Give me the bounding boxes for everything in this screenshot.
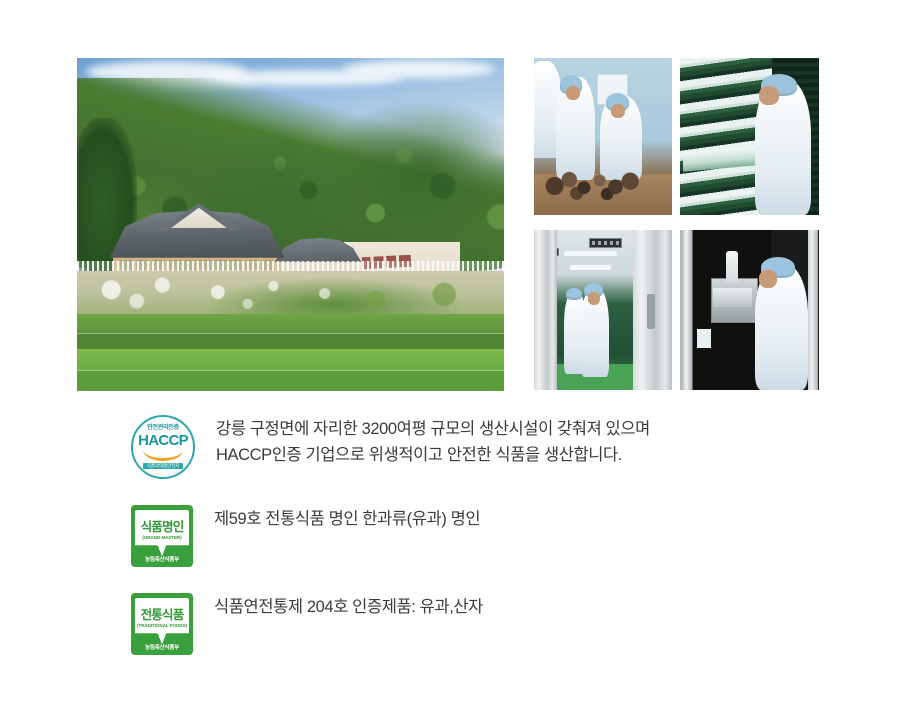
product-pile [542, 162, 647, 203]
hand-sanitizing-station-photo [679, 229, 820, 391]
steel-door [633, 230, 672, 390]
certification-row-traditional-foods: 전통식품 (TRADITIONAL FOODS) 농림축산식품부 식품연전통제 … [131, 593, 900, 655]
photo-gallery [0, 0, 900, 400]
worker-face [759, 86, 778, 105]
worker-face [759, 270, 777, 288]
badge-inner-panel: 전통식품 (TRADITIONAL FOODS) [135, 598, 189, 644]
badge-title: 전통식품 [141, 609, 184, 622]
haccp-badge-top-label: 안전관리인증 [147, 425, 179, 431]
steel-column [808, 230, 818, 390]
worker-face [566, 86, 580, 100]
certification-description-grand-master: 제59호 전통식품 명인 한과류(유과) 명인 [214, 505, 480, 532]
workers-sorting-products-photo [533, 57, 673, 216]
sanitizer-bottle [726, 251, 739, 283]
steel-column [683, 230, 693, 390]
hairnet-cap-icon [566, 288, 583, 301]
worker-face [611, 104, 625, 118]
certification-list: 안전관리인증 HACCP 식품의약품안전처 강릉 구정면에 자리한 3200여평… [0, 404, 900, 655]
badge-subtitle: (GRAND MASTER) [142, 536, 181, 541]
page-root: 안전관리인증 HACCP 식품의약품안전처 강릉 구정면에 자리한 3200여평… [0, 0, 900, 704]
landscaped-bank [77, 271, 504, 318]
certification-description-traditional-foods: 식품연전통제 204호 인증제품: 유과,산자 [214, 593, 483, 620]
badge-subtitle: (TRADITIONAL FOODS) [137, 624, 187, 629]
paper-towel-dispenser [697, 329, 711, 348]
certification-description-haccp: 강릉 구정면에 자리한 3200여평 규모의 생산시설이 갖춰져 있으며 HAC… [216, 415, 650, 468]
grass-field [77, 371, 504, 392]
certification-row-grand-master: 식품명인 (GRAND MASTER) 농림축산식품부 제59호 전통식품 명인… [131, 505, 900, 567]
ceiling-light [570, 265, 611, 270]
haccp-certification-badge-icon: 안전관리인증 HACCP 식품의약품안전처 [131, 415, 195, 479]
worker-drying-rack-photo [679, 57, 820, 216]
air-shower-room-photo [533, 229, 673, 391]
badge-footer: 농림축산식품부 [145, 646, 179, 652]
worker-face [588, 292, 600, 305]
badge-title: 식품명인 [141, 521, 184, 534]
certification-row-haccp: 안전관리인증 HACCP 식품의약품안전처 강릉 구정면에 자리한 3200여평… [131, 415, 900, 479]
steel-door [534, 230, 557, 390]
cloud [342, 60, 496, 78]
shrub-texture [77, 271, 504, 318]
badge-inner-panel: 식품명인 (GRAND MASTER) [135, 510, 189, 556]
door-handle [647, 294, 655, 329]
haccp-badge-bottom-label: 식품의약품안전처 [143, 463, 183, 470]
haccp-swoosh-icon [143, 450, 183, 461]
badge-footer: 농림축산식품부 [145, 558, 179, 564]
ceiling-light [564, 251, 616, 257]
sanitizer-control-panel [713, 288, 752, 307]
traditional-foods-certification-badge-icon: 전통식품 (TRADITIONAL FOODS) 농림축산식품부 [131, 593, 193, 655]
haccp-badge-main-label: HACCP [138, 433, 188, 449]
grand-master-certification-badge-icon: 식품명인 (GRAND MASTER) 농림축산식품부 [131, 505, 193, 567]
door-sign [589, 238, 622, 248]
factory-building-exterior-photo [76, 57, 505, 392]
